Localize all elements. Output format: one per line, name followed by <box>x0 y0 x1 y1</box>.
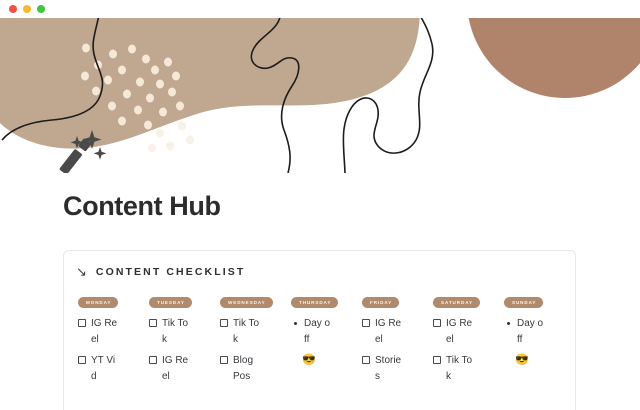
task-label: YT Vid <box>91 353 118 384</box>
task-label: Tik Tok <box>233 316 260 347</box>
task-label: Tik Tok <box>162 316 189 347</box>
day-column-sunday: SUNDAYDay off😎 <box>504 291 575 390</box>
task-item[interactable]: IG Reel <box>362 316 402 347</box>
day-badge: SUNDAY <box>504 297 543 308</box>
day-column-wednesday: WEDNESDAYTik TokBlog Pos <box>220 291 291 390</box>
window-titlebar <box>0 0 640 18</box>
task-item[interactable]: YT Vid <box>78 353 118 384</box>
task-label: Day off <box>304 316 331 347</box>
task-checkbox[interactable] <box>78 319 86 327</box>
week-columns: MONDAYIG ReelYT VidTUESDAYTik TokIG Reel… <box>64 278 575 390</box>
close-button[interactable] <box>9 5 17 13</box>
task-label: Day off <box>517 316 544 347</box>
day-badge: TUESDAY <box>149 297 192 308</box>
brown-circle-shape <box>467 18 640 98</box>
sunglasses-emoji: 😎 <box>302 353 362 367</box>
day-badge: FRIDAY <box>362 297 399 308</box>
task-checkbox[interactable] <box>433 356 441 364</box>
task-checkbox[interactable] <box>149 319 157 327</box>
task-item[interactable]: Tik Tok <box>149 316 189 347</box>
task-label: IG Reel <box>162 353 189 384</box>
content-checklist-card: ↘ CONTENT CHECKLIST MONDAYIG ReelYT VidT… <box>63 250 576 410</box>
day-badge: THURSDAY <box>291 297 338 308</box>
checklist-header: ↘ CONTENT CHECKLIST <box>64 251 575 278</box>
day-badge: SATURDAY <box>433 297 480 308</box>
day-column-tuesday: TUESDAYTik TokIG Reel <box>149 291 220 390</box>
task-label: IG Reel <box>446 316 473 347</box>
task-label: Tik Tok <box>446 353 473 384</box>
task-checkbox[interactable] <box>149 356 157 364</box>
task-checkbox[interactable] <box>220 356 228 364</box>
day-badge: MONDAY <box>78 297 118 308</box>
minimize-button[interactable] <box>23 5 31 13</box>
hero-artwork <box>0 18 640 173</box>
task-checkbox[interactable] <box>362 319 370 327</box>
day-column-friday: FRIDAYIG ReelStories <box>362 291 433 390</box>
day-badge: WEDNESDAY <box>220 297 273 308</box>
arrow-down-right-icon: ↘ <box>76 265 87 278</box>
task-item[interactable]: Day off <box>504 316 544 347</box>
day-column-monday: MONDAYIG ReelYT Vid <box>78 291 149 390</box>
sunglasses-emoji: 😎 <box>515 353 575 367</box>
bullet-icon <box>507 322 510 325</box>
task-item[interactable]: Blog Pos <box>220 353 260 384</box>
task-item[interactable]: Stories <box>362 353 402 384</box>
task-label: IG Reel <box>91 316 118 347</box>
task-item[interactable]: Day off <box>291 316 331 347</box>
task-item[interactable]: IG Reel <box>78 316 118 347</box>
day-column-thursday: THURSDAYDay off😎 <box>291 291 362 390</box>
task-checkbox[interactable] <box>220 319 228 327</box>
page-title: Content Hub <box>0 173 640 222</box>
task-checkbox[interactable] <box>78 356 86 364</box>
maximize-button[interactable] <box>37 5 45 13</box>
task-checkbox[interactable] <box>433 319 441 327</box>
page-content: Content Hub <box>0 173 640 222</box>
task-item[interactable]: IG Reel <box>149 353 189 384</box>
tan-blob-shape <box>0 18 420 149</box>
task-label: IG Reel <box>375 316 402 347</box>
checklist-title: CONTENT CHECKLIST <box>96 266 245 278</box>
task-checkbox[interactable] <box>362 356 370 364</box>
task-label: Stories <box>375 353 402 384</box>
task-item[interactable]: Tik Tok <box>220 316 260 347</box>
bullet-icon <box>294 322 297 325</box>
task-item[interactable]: Tik Tok <box>433 353 473 384</box>
task-label: Blog Pos <box>233 353 260 384</box>
hero-banner <box>0 18 640 173</box>
day-column-saturday: SATURDAYIG ReelTik Tok <box>433 291 504 390</box>
task-item[interactable]: IG Reel <box>433 316 473 347</box>
